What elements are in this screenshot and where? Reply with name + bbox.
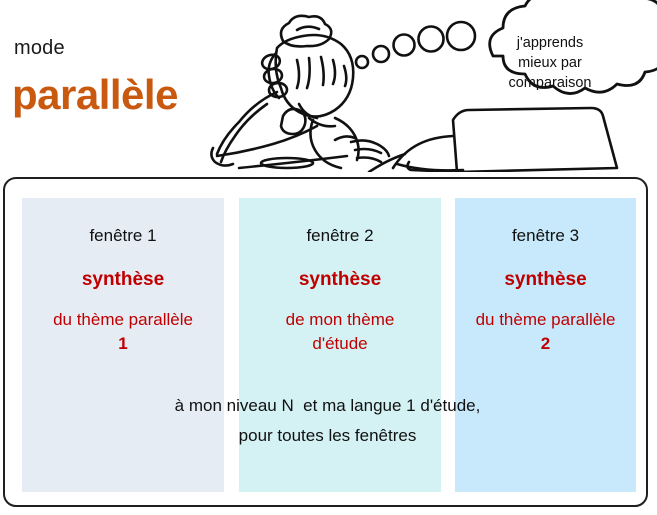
detail-text-2: de mon thème d'étude	[239, 308, 441, 356]
detail-main-2: de mon thème	[286, 310, 395, 329]
synthese-label-2: synthèse	[239, 268, 441, 292]
windows-columns: fenêtre 1 synthèse du thème parallèle 1 …	[5, 179, 646, 505]
parallel-mode-panel: fenêtre 1 synthèse du thème parallèle 1 …	[3, 177, 648, 507]
thought-bubble-line: j'apprends mieux par comparaison	[508, 35, 591, 91]
detail-emphasis-1: 1	[118, 334, 127, 353]
window-column-3[interactable]: fenêtre 3 synthèse du thème parallèle 2	[455, 198, 636, 492]
detail-text-1: du thème parallèle 1	[22, 308, 224, 356]
window-label-2: fenêtre 2	[239, 225, 441, 247]
window-column-2[interactable]: fenêtre 2 synthèse de mon thème d'étude	[239, 198, 441, 492]
synthese-label-1: synthèse	[22, 268, 224, 292]
detail-main-3: du thème parallèle	[476, 310, 616, 329]
page-title: parallèle	[12, 70, 178, 120]
window-label-1: fenêtre 1	[22, 225, 224, 247]
window-column-1[interactable]: fenêtre 1 synthèse du thème parallèle 1	[22, 198, 224, 492]
header-illustration-area: mode parallèle	[0, 0, 657, 172]
synthese-label-3: synthèse	[455, 268, 636, 292]
detail-emphasis-3: 2	[541, 334, 550, 353]
mode-label: mode	[14, 36, 65, 60]
thought-bubble-text: j'apprends mieux par comparaison	[470, 33, 630, 93]
window-label-3: fenêtre 3	[455, 225, 636, 247]
detail-emphasis-2: d'étude	[312, 334, 367, 353]
detail-main-1: du thème parallèle	[53, 310, 193, 329]
detail-text-3: du thème parallèle 2	[455, 308, 636, 356]
